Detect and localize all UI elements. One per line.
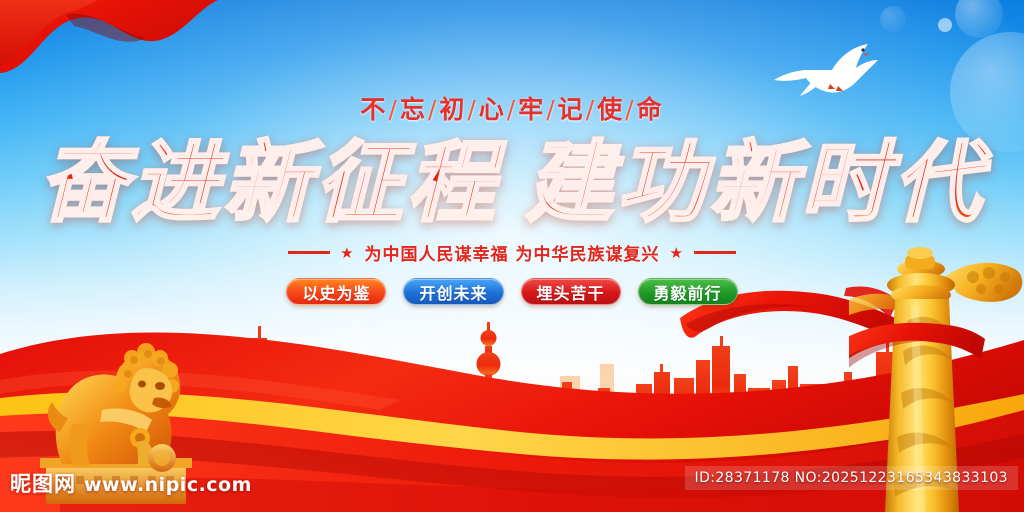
poster-canvas: 不/忘/初/心/牢/记/使/命 奋进新征程建功新时代 ★ 为中国人民谋幸福 为中… <box>0 0 1024 512</box>
badge-yongyiqianxing[interactable]: 勇毅前行 <box>638 278 738 305</box>
site-name-cn: 昵图网 <box>10 468 76 498</box>
image-id-watermark: ID:28371178 NO:20251223165343833103 <box>685 466 1018 490</box>
badge-yishiweijian[interactable]: 以史为鉴 <box>286 278 386 305</box>
badge-maitoukugan[interactable]: 埋头苦干 <box>521 278 621 305</box>
red-flag-decor <box>0 0 240 100</box>
site-watermark[interactable]: 昵图网 www.nipic.com <box>10 468 252 498</box>
site-url: www.nipic.com <box>84 474 252 496</box>
bubble-decor-4 <box>880 6 906 32</box>
dove-icon <box>768 40 878 106</box>
bubble-decor-2 <box>938 18 952 32</box>
badge-kaichuangweilai[interactable]: 开创未来 <box>403 278 503 305</box>
